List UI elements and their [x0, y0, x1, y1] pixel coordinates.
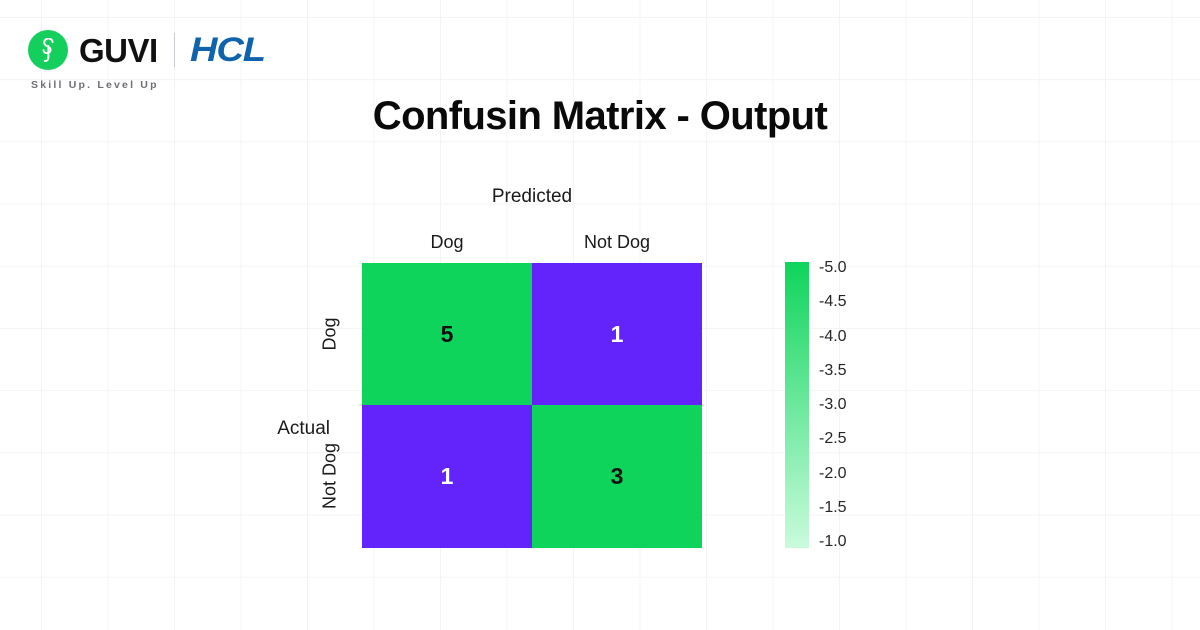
- colorbar-tick: -2.0: [819, 465, 847, 483]
- colorbar: -5.0-4.5-4.0-3.5-3.0-2.5-2.0-1.5-1.0: [785, 262, 809, 548]
- colorbar-tick-labels: -5.0-4.5-4.0-3.5-3.0-2.5-2.0-1.5-1.0: [819, 262, 889, 548]
- colorbar-tick: -3.5: [819, 362, 847, 380]
- confusion-matrix-heatmap: 5 1 1 3: [362, 263, 702, 548]
- brand-divider: [174, 33, 175, 67]
- matrix-cell-dog-dog[interactable]: 5: [362, 263, 532, 405]
- y-axis-title: Actual: [150, 418, 330, 440]
- matrix-cell-notdog-notdog[interactable]: 3: [532, 405, 702, 548]
- brand-logo-row: GUVI HCL: [28, 28, 257, 72]
- colorbar-tick: -1.0: [819, 533, 847, 551]
- brand-header: GUVI HCL Skill Up. Level Up: [28, 28, 257, 91]
- colorbar-tick: -5.0: [819, 259, 847, 277]
- y-tick-label-not-dog: Not Dog: [319, 405, 341, 548]
- y-tick-label-dog: Dog: [319, 263, 341, 406]
- colorbar-tick: -1.5: [819, 499, 847, 517]
- colorbar-tick: -3.0: [819, 396, 847, 414]
- colorbar-gradient: [785, 262, 809, 548]
- chart-title: Confusin Matrix - Output: [0, 94, 1200, 139]
- colorbar-tick: -4.0: [819, 328, 847, 346]
- guvi-logo-icon: [28, 30, 68, 70]
- matrix-cell-notdog-dog[interactable]: 1: [362, 405, 532, 548]
- colorbar-tick: -2.5: [819, 430, 847, 448]
- guvi-wordmark: GUVI: [79, 34, 158, 67]
- x-axis-title: Predicted: [362, 186, 702, 208]
- x-tick-label-not-dog: Not Dog: [532, 232, 702, 253]
- hcl-wordmark: HCL: [190, 33, 265, 67]
- matrix-cell-dog-notdog[interactable]: 1: [532, 263, 702, 405]
- colorbar-tick: -4.5: [819, 293, 847, 311]
- brand-tagline: Skill Up. Level Up: [31, 79, 159, 91]
- x-tick-label-dog: Dog: [362, 232, 532, 253]
- chart-canvas: GUVI HCL Skill Up. Level Up Confusin Mat…: [0, 0, 1200, 630]
